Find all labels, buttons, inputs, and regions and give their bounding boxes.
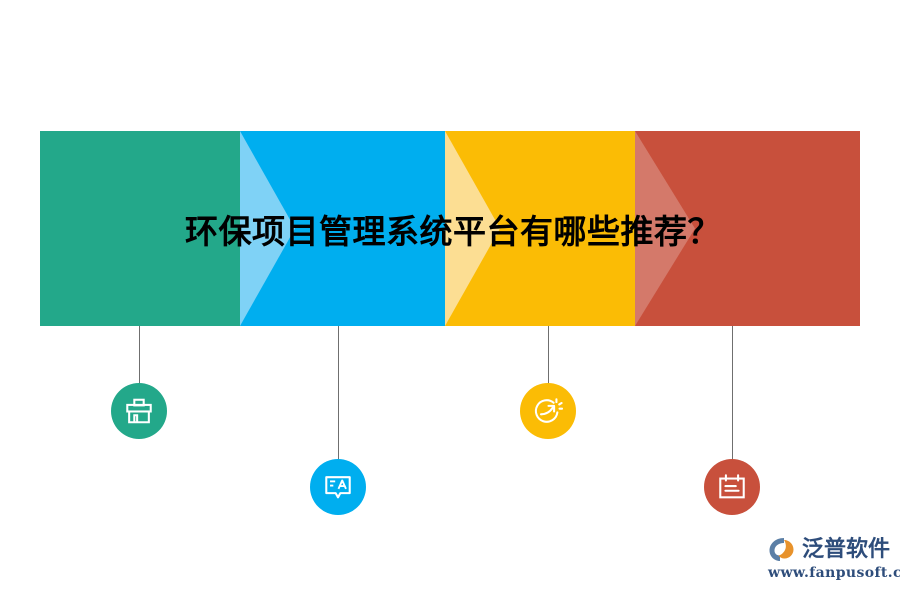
connector-line-3: [548, 326, 549, 390]
connector-line-2: [338, 326, 339, 466]
growth-arrow-icon: [533, 396, 563, 426]
watermark-brand-row: 泛普软件: [768, 536, 892, 563]
translate-chat-icon: [323, 472, 353, 502]
connector-line-1: [139, 326, 140, 390]
watermark-brand-name: 泛普软件: [802, 539, 890, 561]
chevron-banner: 环保项目管理系统平台有哪些推荐？: [40, 131, 860, 326]
calendar-note-icon: [717, 472, 747, 502]
node-store[interactable]: [111, 383, 167, 439]
watermark: 泛普软件 www.fanpusoft.com: [768, 536, 892, 588]
node-growth[interactable]: [520, 383, 576, 439]
node-calendar[interactable]: [704, 459, 760, 515]
node-translate-chat[interactable]: [310, 459, 366, 515]
store-icon: [124, 396, 154, 426]
connector-line-4: [732, 326, 733, 466]
watermark-url: www.fanpusoft.com: [768, 565, 892, 581]
banner-title: 环保项目管理系统平台有哪些推荐？: [40, 131, 860, 326]
infographic-root: 环保项目管理系统平台有哪些推荐？: [0, 0, 900, 600]
fanpu-swirl-logo-icon: [768, 536, 798, 563]
